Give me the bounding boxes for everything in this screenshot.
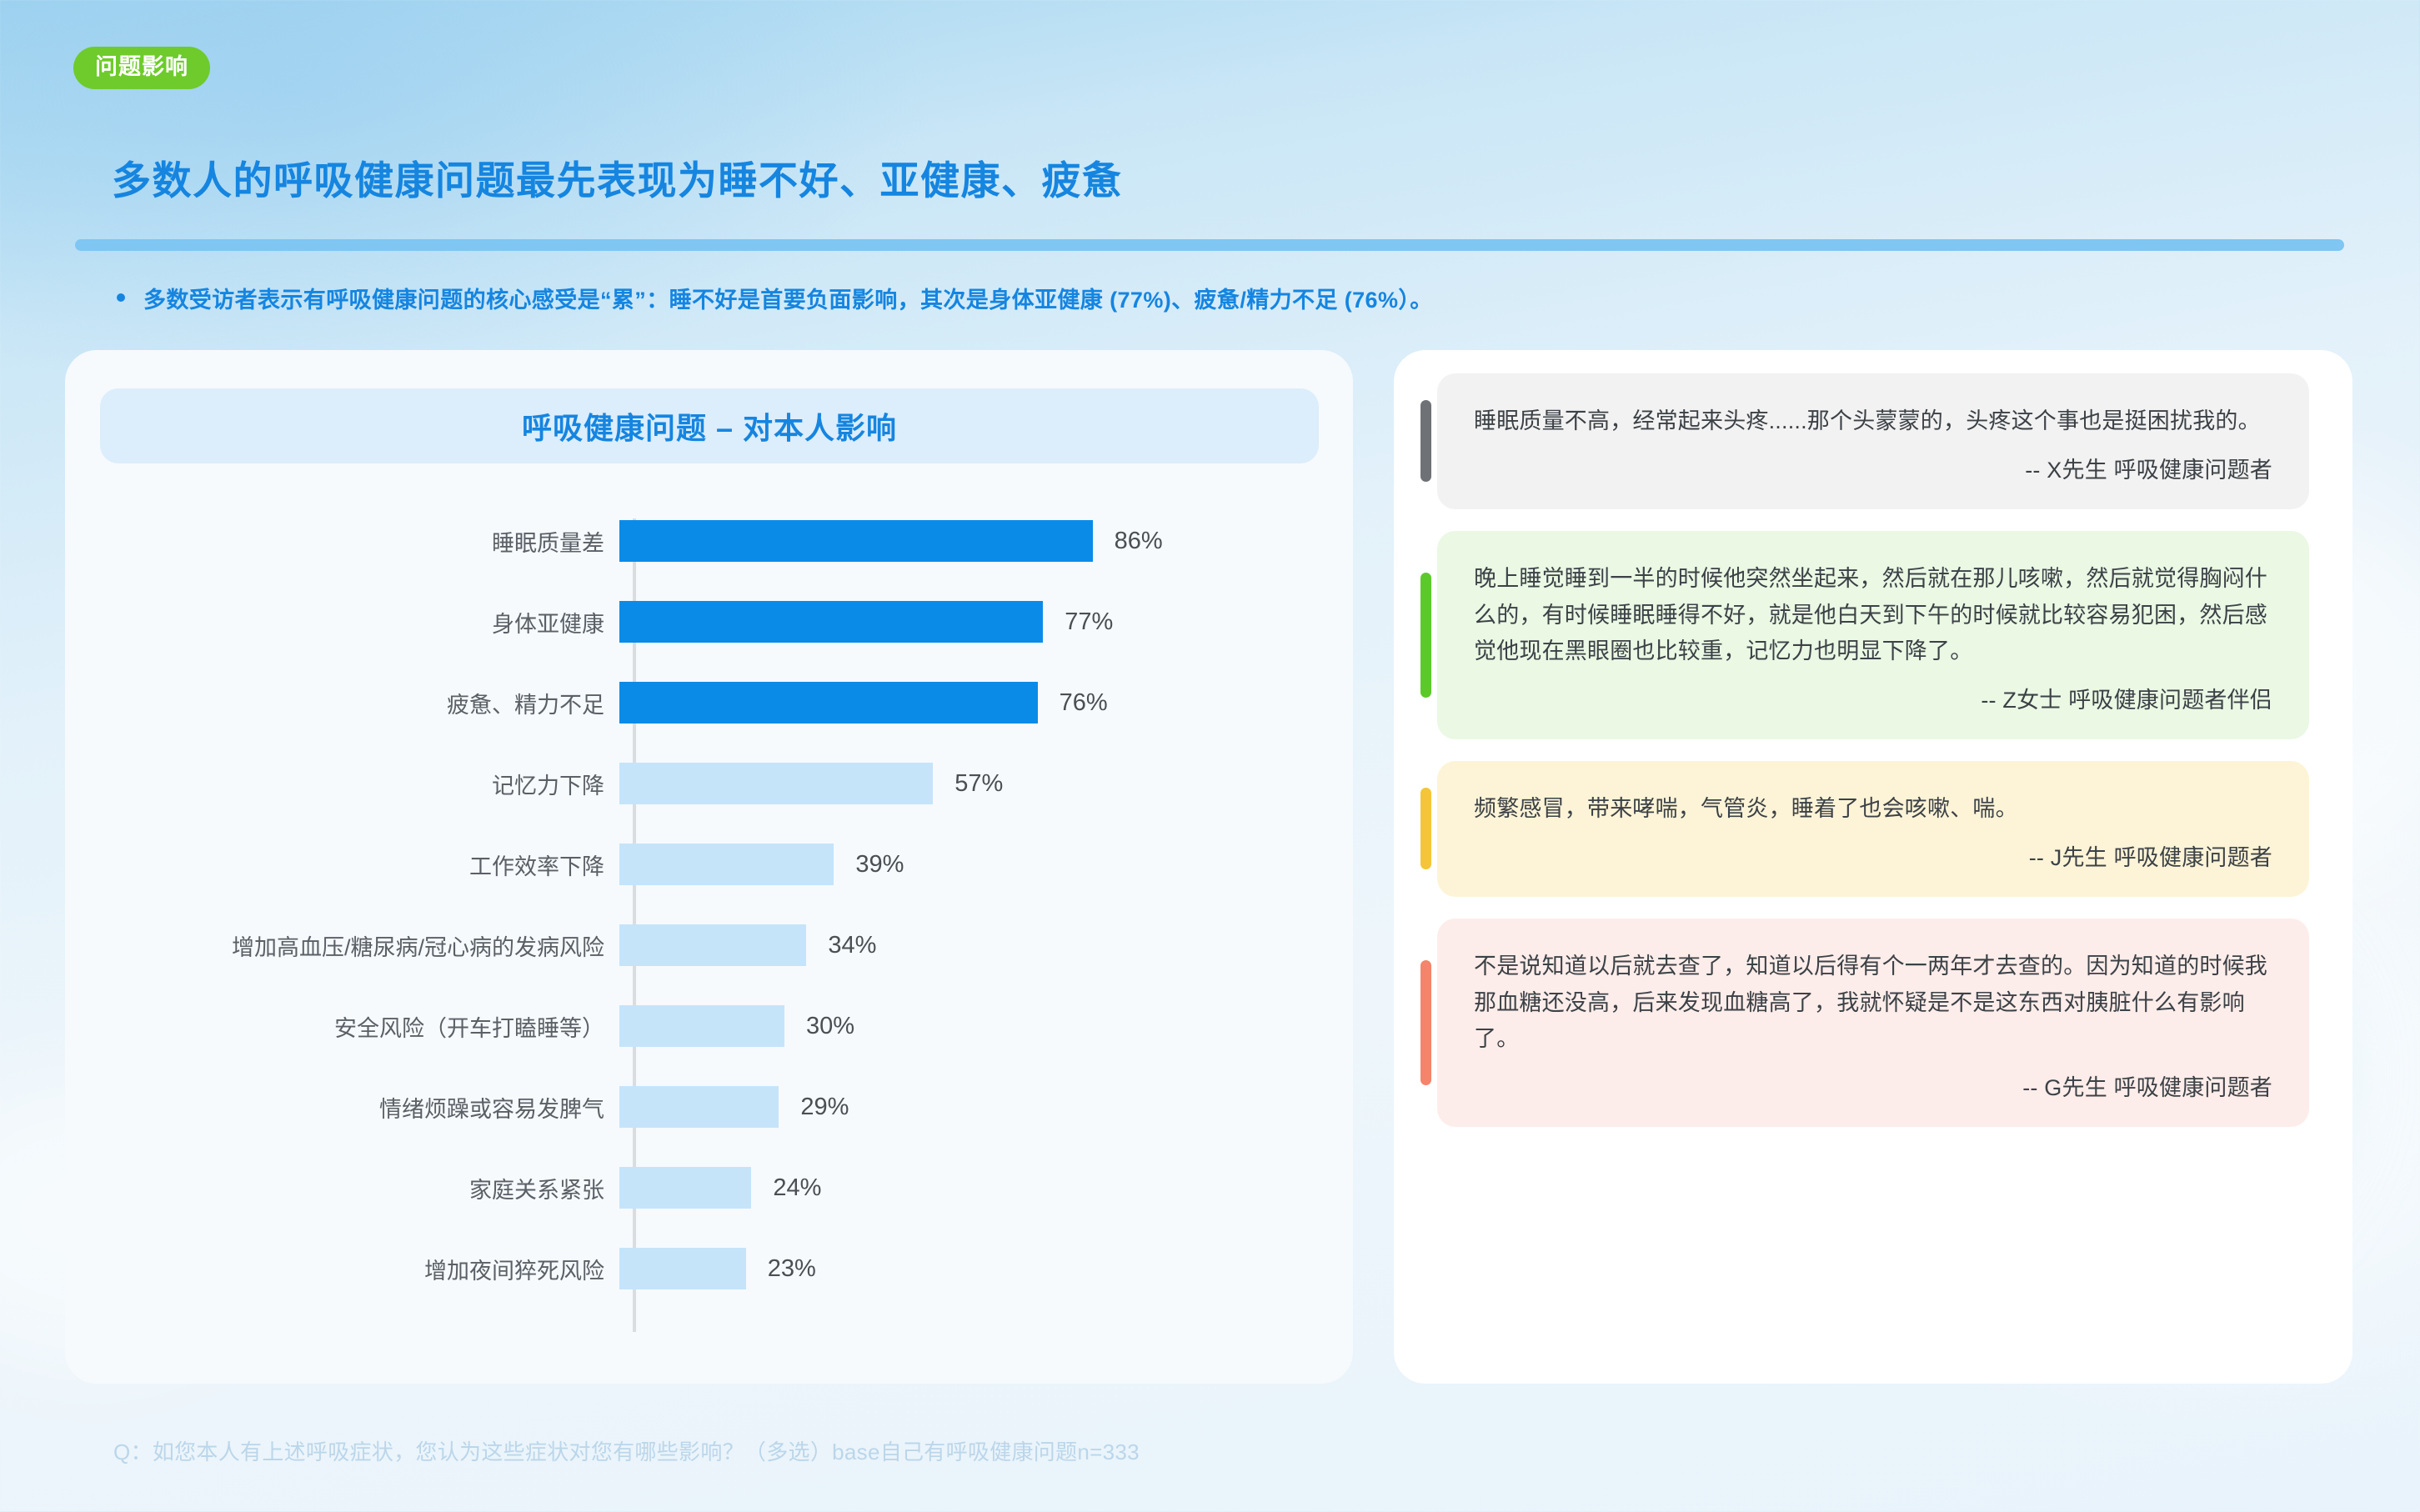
title-divider <box>75 239 2344 251</box>
bullet-dot-icon <box>117 293 125 302</box>
chart-title-bar: 呼吸健康问题 – 对本人影响 <box>100 388 1319 463</box>
quote-accent-bar <box>1420 573 1431 698</box>
bar-category-label: 疲惫、精力不足 <box>65 687 619 719</box>
quote-card: 晚上睡觉睡到一半的时候他突然坐起来，然后就在那儿咳嗽，然后就觉得胸闷什么的，有时… <box>1437 531 2309 739</box>
bar-value-label: 57% <box>954 770 1003 798</box>
bar-row: 睡眠质量差86% <box>65 520 1353 562</box>
bar-value-label: 24% <box>773 1174 821 1202</box>
bar-row: 身体亚健康77% <box>65 601 1353 643</box>
bar-row: 增加夜间猝死风险23% <box>65 1248 1353 1289</box>
quote-text: 睡眠质量不高，经常起来头疼......那个头蒙蒙的，头疼这个事也是挺困扰我的。 <box>1474 403 2272 440</box>
bar-track: 29% <box>619 1086 1353 1128</box>
bar-category-label: 增加夜间猝死风险 <box>65 1253 619 1285</box>
quote-attribution: -- G先生 呼吸健康问题者 <box>1474 1069 2272 1102</box>
bar-fill <box>619 1086 779 1128</box>
chart-panel: 呼吸健康问题 – 对本人影响 睡眠质量差86%身体亚健康77%疲惫、精力不足76… <box>65 350 1353 1384</box>
quote-text: 不是说知道以后就去查了，知道以后得有个一两年才去查的。因为知道的时候我那血糖还没… <box>1474 949 2272 1058</box>
bar-value-label: 30% <box>806 1013 854 1040</box>
bar-row: 工作效率下降39% <box>65 844 1353 885</box>
bar-category-label: 情绪烦躁或容易发脾气 <box>65 1091 619 1124</box>
bar-value-label: 76% <box>1060 689 1108 717</box>
bar-row: 情绪烦躁或容易发脾气29% <box>65 1086 1353 1128</box>
quote-text: 频繁感冒，带来哮喘，气管炎，睡着了也会咳嗽、喘。 <box>1474 791 2272 828</box>
bar-fill <box>619 763 933 804</box>
bar-fill <box>619 520 1093 562</box>
bar-fill <box>619 924 806 966</box>
quote-card: 不是说知道以后就去查了，知道以后得有个一两年才去查的。因为知道的时候我那血糖还没… <box>1437 919 2309 1127</box>
bar-track: 77% <box>619 601 1353 643</box>
quote-accent-bar <box>1420 960 1431 1085</box>
bar-track: 76% <box>619 682 1353 723</box>
quotes-panel: 睡眠质量不高，经常起来头疼......那个头蒙蒙的，头疼这个事也是挺困扰我的。-… <box>1394 350 2352 1384</box>
bar-row: 家庭关系紧张24% <box>65 1167 1353 1209</box>
bar-category-label: 家庭关系紧张 <box>65 1172 619 1204</box>
bar-category-label: 睡眠质量差 <box>65 525 619 558</box>
bar-fill <box>619 682 1038 723</box>
bar-value-label: 34% <box>828 932 876 959</box>
bar-value-label: 29% <box>800 1094 849 1121</box>
bar-value-label: 23% <box>768 1255 816 1283</box>
chart-title: 呼吸健康问题 – 对本人影响 <box>522 404 897 448</box>
page-title: 多数人的呼吸健康问题最先表现为睡不好、亚健康、疲惫 <box>112 148 1123 206</box>
bar-track: 24% <box>619 1167 1353 1209</box>
bar-row: 增加高血压/糖尿病/冠心病的发病风险34% <box>65 924 1353 966</box>
bar-track: 30% <box>619 1005 1353 1047</box>
bar-value-label: 86% <box>1115 528 1163 555</box>
subtitle-bullet-row: 多数受访者表示有呼吸健康问题的核心感受是“累”：睡不好是首要负面影响，其次是身体… <box>117 282 1433 314</box>
bar-chart-plot: 睡眠质量差86%身体亚健康77%疲惫、精力不足76%记忆力下降57%工作效率下降… <box>65 517 1353 1350</box>
bar-track: 23% <box>619 1248 1353 1289</box>
bar-category-label: 记忆力下降 <box>65 768 619 800</box>
bar-value-label: 39% <box>855 851 904 879</box>
quote-card: 睡眠质量不高，经常起来头疼......那个头蒙蒙的，头疼这个事也是挺困扰我的。-… <box>1437 373 2309 509</box>
quote-attribution: -- Z女士 呼吸健康问题者伴侣 <box>1474 682 2272 714</box>
bar-category-label: 身体亚健康 <box>65 606 619 638</box>
subtitle-text: 多数受访者表示有呼吸健康问题的核心感受是“累”：睡不好是首要负面影响，其次是身体… <box>143 282 1433 314</box>
quote-card: 频繁感冒，带来哮喘，气管炎，睡着了也会咳嗽、喘。-- J先生 呼吸健康问题者 <box>1437 761 2309 897</box>
bar-fill <box>619 1005 784 1047</box>
source-footnote: Q：如您本人有上述呼吸症状，您认为这些症状对您有哪些影响？（多选）base自己有… <box>113 1435 1140 1466</box>
bar-fill <box>619 1167 751 1209</box>
bar-fill <box>619 1248 746 1289</box>
bar-fill <box>619 601 1043 643</box>
bar-track: 39% <box>619 844 1353 885</box>
bar-category-label: 增加高血压/糖尿病/冠心病的发病风险 <box>65 929 619 962</box>
bar-category-label: 工作效率下降 <box>65 849 619 881</box>
section-badge: 问题影响 <box>73 47 210 89</box>
bar-row: 疲惫、精力不足76% <box>65 682 1353 723</box>
bar-track: 86% <box>619 520 1353 562</box>
quote-accent-bar <box>1420 788 1431 869</box>
bar-row: 记忆力下降57% <box>65 763 1353 804</box>
quote-accent-bar <box>1420 400 1431 482</box>
bar-track: 57% <box>619 763 1353 804</box>
quote-text: 晚上睡觉睡到一半的时候他突然坐起来，然后就在那儿咳嗽，然后就觉得胸闷什么的，有时… <box>1474 561 2272 670</box>
bar-fill <box>619 844 834 885</box>
quote-attribution: -- J先生 呼吸健康问题者 <box>1474 839 2272 872</box>
bar-track: 34% <box>619 924 1353 966</box>
bar-row: 安全风险（开车打瞌睡等）30% <box>65 1005 1353 1047</box>
bar-value-label: 77% <box>1065 608 1113 636</box>
quote-attribution: -- X先生 呼吸健康问题者 <box>1474 452 2272 484</box>
bar-category-label: 安全风险（开车打瞌睡等） <box>65 1010 619 1043</box>
